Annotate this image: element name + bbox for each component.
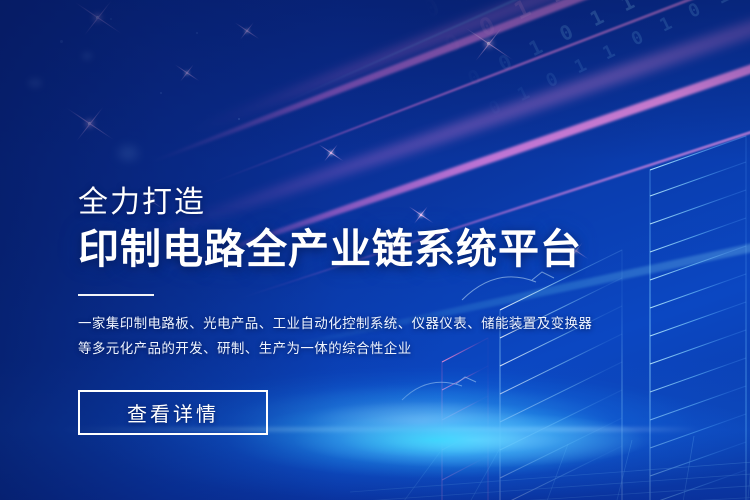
hero-content: 全力打造 印制电路全产业链系统平台 一家集印制电路板、光电产品、工业自动化控制系… [78, 186, 638, 435]
star-sparkle [186, 72, 188, 74]
hero-eyebrow: 全力打造 [78, 186, 638, 221]
star-sparkle [330, 152, 332, 154]
star-sparkle [246, 30, 248, 32]
divider-rule [78, 294, 154, 296]
hero-description-line-1: 一家集印制电路板、光电产品、工业自动化控制系统、仪器仪表、储能装置及变换器 [78, 312, 638, 337]
view-details-button[interactable]: 查看详情 [78, 390, 268, 435]
hero-description-line-2: 等多元化产品的开发、研制、生产为一体的综合性企业 [78, 337, 638, 362]
hero-description: 一家集印制电路板、光电产品、工业自动化控制系统、仪器仪表、储能装置及变换器 等多… [78, 312, 638, 362]
hero-banner: 1 0 0 1 1 0 1 0 0 1 0 1 1 0 0 1 0 1 0 0 … [0, 0, 750, 500]
hero-headline: 印制电路全产业链系统平台 [78, 227, 638, 273]
star-sparkle [96, 16, 99, 19]
star-sparkle [88, 122, 91, 125]
